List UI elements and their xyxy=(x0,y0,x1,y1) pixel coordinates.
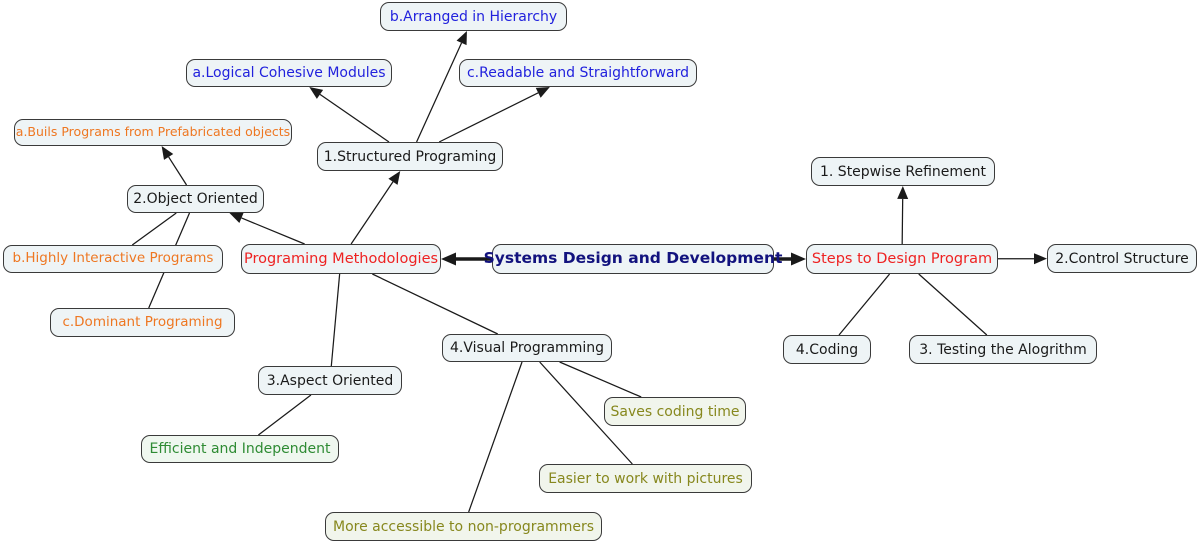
node-label: More accessible to non-programmers xyxy=(333,520,594,534)
node-testing-the-algorithm[interactable]: 3. Testing the Alogrithm xyxy=(909,335,1097,364)
node-label: 2.Control Structure xyxy=(1055,252,1189,266)
edge-arrowhead xyxy=(1034,253,1047,264)
edge-line xyxy=(169,157,187,185)
node-label: c.Dominant Programing xyxy=(62,316,222,330)
edge-line xyxy=(839,274,890,335)
edge-arrowhead xyxy=(897,186,908,199)
edge-arrowhead xyxy=(441,253,456,266)
node-label: b.Highly Interactive Programs xyxy=(13,252,214,266)
node-label: 1. Stepwise Refinement xyxy=(820,165,986,179)
edge-arrowhead xyxy=(457,31,467,45)
edge-arrowhead xyxy=(388,171,400,185)
node-label: Systems Design and Development xyxy=(484,251,783,267)
edge-line xyxy=(919,274,987,335)
node-readable-and-straightforward[interactable]: c.Readable and Straightforward xyxy=(459,59,697,87)
node-label: c.Readable and Straightforward xyxy=(467,66,689,80)
node-dominant-programing[interactable]: c.Dominant Programing xyxy=(50,308,235,337)
edge-line xyxy=(469,362,522,512)
node-label: 4.Visual Programming xyxy=(450,341,604,355)
node-label: Efficient and Independent xyxy=(150,442,331,456)
node-label: Programing Methodologies xyxy=(244,252,438,267)
node-label: a.Buils Programs from Prefabricated obje… xyxy=(16,126,290,139)
edge-line xyxy=(258,395,311,435)
node-control-structure[interactable]: 2.Control Structure xyxy=(1047,244,1197,273)
mindmap-canvas: b.Arranged in Hierarchy a.Logical Cohesi… xyxy=(0,0,1200,544)
node-logical-cohesive-modules[interactable]: a.Logical Cohesive Modules xyxy=(186,59,392,87)
edge-line xyxy=(320,94,389,142)
node-efficient-and-independent[interactable]: Efficient and Independent xyxy=(141,435,339,463)
edge-line xyxy=(372,274,497,334)
edge-arrowhead xyxy=(791,253,806,266)
edge-arrowhead xyxy=(309,87,323,99)
edge-line xyxy=(439,93,538,142)
edge-line xyxy=(132,213,176,245)
edge-arrowhead xyxy=(536,87,550,98)
node-builds-programs-prefabricated[interactable]: a.Buils Programs from Prefabricated obje… xyxy=(14,119,292,146)
node-saves-coding-time[interactable]: Saves coding time xyxy=(604,397,746,426)
node-programing-methodologies[interactable]: Programing Methodologies xyxy=(241,244,441,274)
node-stepwise-refinement[interactable]: 1. Stepwise Refinement xyxy=(811,157,995,186)
node-structured-programing[interactable]: 1.Structured Programing xyxy=(317,142,503,171)
edge-line xyxy=(902,199,903,244)
node-aspect-oriented[interactable]: 3.Aspect Oriented xyxy=(258,366,402,395)
node-visual-programming[interactable]: 4.Visual Programming xyxy=(442,334,612,362)
node-easier-with-pictures[interactable]: Easier to work with pictures xyxy=(539,464,752,493)
node-label: 3. Testing the Alogrithm xyxy=(919,343,1086,357)
node-label: Saves coding time xyxy=(611,405,740,419)
node-more-accessible[interactable]: More accessible to non-programmers xyxy=(325,512,602,541)
node-label: Easier to work with pictures xyxy=(548,472,743,486)
edge-arrowhead xyxy=(162,146,174,160)
node-arranged-in-hierarchy[interactable]: b.Arranged in Hierarchy xyxy=(380,2,567,31)
node-coding[interactable]: 4.Coding xyxy=(783,335,871,364)
node-label: a.Logical Cohesive Modules xyxy=(192,66,385,80)
edge-line xyxy=(331,274,339,366)
node-label: b.Arranged in Hierarchy xyxy=(390,10,557,24)
node-object-oriented[interactable]: 2.Object Oriented xyxy=(127,185,264,213)
edge-line xyxy=(417,43,462,142)
node-label: 2.Object Oriented xyxy=(133,192,258,206)
node-label: Steps to Design Program xyxy=(812,252,992,267)
node-root-systems-design-and-development[interactable]: Systems Design and Development xyxy=(492,244,774,274)
node-label: 1.Structured Programing xyxy=(324,150,497,164)
edge-arrowhead xyxy=(229,213,243,223)
node-label: 3.Aspect Oriented xyxy=(267,374,394,388)
node-highly-interactive-programs[interactable]: b.Highly Interactive Programs xyxy=(3,245,223,273)
node-steps-to-design-program[interactable]: Steps to Design Program xyxy=(806,244,998,274)
edge-line xyxy=(241,218,304,244)
edge-line xyxy=(351,182,393,244)
node-label: 4.Coding xyxy=(796,343,858,357)
edge-line xyxy=(560,362,642,397)
